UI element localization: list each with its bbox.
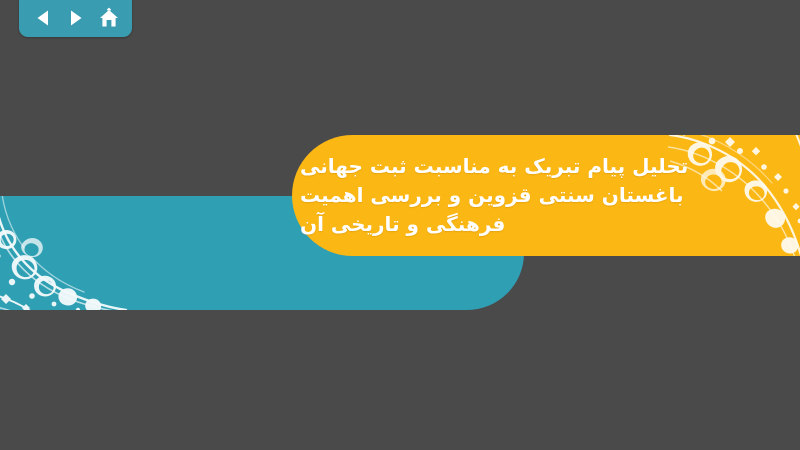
triangle-left-icon [33, 8, 53, 28]
title-line-3: فرهنگی و تاریخی آن [300, 210, 505, 239]
previous-slide-button[interactable] [30, 5, 56, 31]
title-line-1: تحلیل پیام تبریک به مناسبت ثبت جهانی [300, 152, 688, 181]
slide-title: تحلیل پیام تبریک به مناسبت ثبت جهانی باغ… [300, 138, 792, 253]
home-icon [98, 7, 120, 29]
next-slide-button[interactable] [63, 5, 89, 31]
slide-navigation-bar [19, 0, 132, 37]
presentation-slide: تحلیل پیام تبریک به مناسبت ثبت جهانی باغ… [0, 0, 800, 450]
title-line-2: باغستان سنتی قزوین و بررسی اهمیت [300, 181, 684, 210]
home-button[interactable] [96, 5, 122, 31]
arabesque-corner-ornament [0, 196, 128, 310]
triangle-right-icon [66, 8, 86, 28]
